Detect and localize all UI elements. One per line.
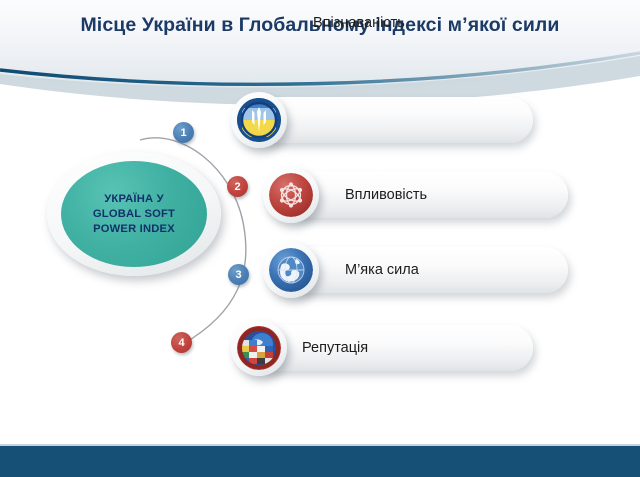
item-icon-holder-2[interactable] xyxy=(263,167,319,223)
step-badge-4[interactable]: 4 xyxy=(171,332,192,353)
step-badge-1[interactable]: 1 xyxy=(173,122,194,143)
step-badge-3[interactable]: 3 xyxy=(228,264,249,285)
hub-label: УКРАЇНА У GLOBAL SOFT POWER INDEX xyxy=(61,161,207,267)
item-label-1: Впізнаваність xyxy=(313,0,405,46)
hub-circle: УКРАЇНА У GLOBAL SOFT POWER INDEX xyxy=(47,152,221,276)
hub-label-line-1: УКРАЇНА У xyxy=(104,192,163,207)
item-label-4: Репутація xyxy=(302,325,368,371)
hub-label-line-2: GLOBAL SOFT xyxy=(93,207,175,222)
item-icon-holder-1[interactable] xyxy=(231,92,287,148)
item-label-3: М’яка сила xyxy=(345,247,419,293)
network-globe-icon xyxy=(269,173,313,217)
slide-canvas: Місце України в Глобальному індексі м’як… xyxy=(0,0,640,477)
globe-icon xyxy=(269,248,313,292)
hub-label-line-3: POWER INDEX xyxy=(93,222,175,237)
item-icon-holder-4[interactable] xyxy=(231,320,287,376)
ukraine-trident-flag-icon xyxy=(237,98,281,142)
item-label-2: Впливовість xyxy=(345,172,427,218)
item-bar-4[interactable] xyxy=(251,325,533,371)
world-flags-globe-icon xyxy=(237,326,281,370)
item-bar-1[interactable] xyxy=(251,97,533,143)
footer-bar xyxy=(0,446,640,477)
step-badge-2[interactable]: 2 xyxy=(227,176,248,197)
item-icon-holder-3[interactable] xyxy=(263,242,319,298)
item-bar-3[interactable] xyxy=(283,247,568,293)
